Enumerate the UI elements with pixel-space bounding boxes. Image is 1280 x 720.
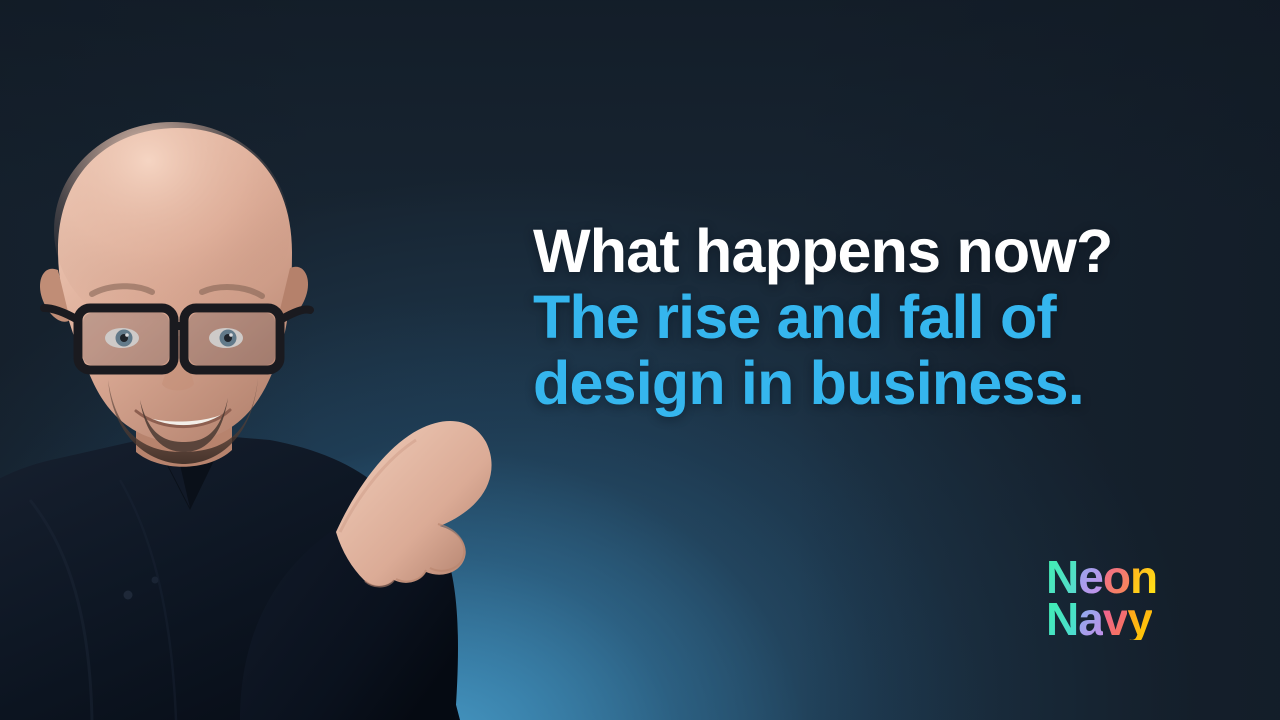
brand-logo-line-navy: Navy	[1046, 598, 1157, 640]
brand-logo-line-neon: Neon	[1046, 556, 1157, 598]
speaker-portrait	[0, 80, 560, 720]
headline-line-3: design in business.	[533, 350, 1173, 416]
presentation-slide: What happens now? The rise and fall of d…	[0, 0, 1280, 720]
brand-logo-letter: n	[1130, 556, 1157, 598]
headline-line-1: What happens now?	[533, 218, 1173, 284]
portrait-head	[40, 122, 310, 464]
brand-logo-letter: a	[1078, 598, 1103, 640]
headline: What happens now? The rise and fall of d…	[533, 218, 1173, 416]
brand-logo-letter: o	[1103, 556, 1130, 598]
headline-line-2: The rise and fall of	[533, 284, 1173, 350]
brand-logo-letter: e	[1078, 556, 1103, 598]
brand-logo-letter: N	[1046, 598, 1078, 640]
brand-logo[interactable]: Neon Navy	[1046, 556, 1157, 640]
brand-logo-letter: N	[1046, 556, 1078, 598]
brand-logo-letter: v	[1103, 598, 1128, 640]
portrait-arm	[336, 421, 492, 587]
brand-logo-letter: y	[1127, 598, 1152, 640]
